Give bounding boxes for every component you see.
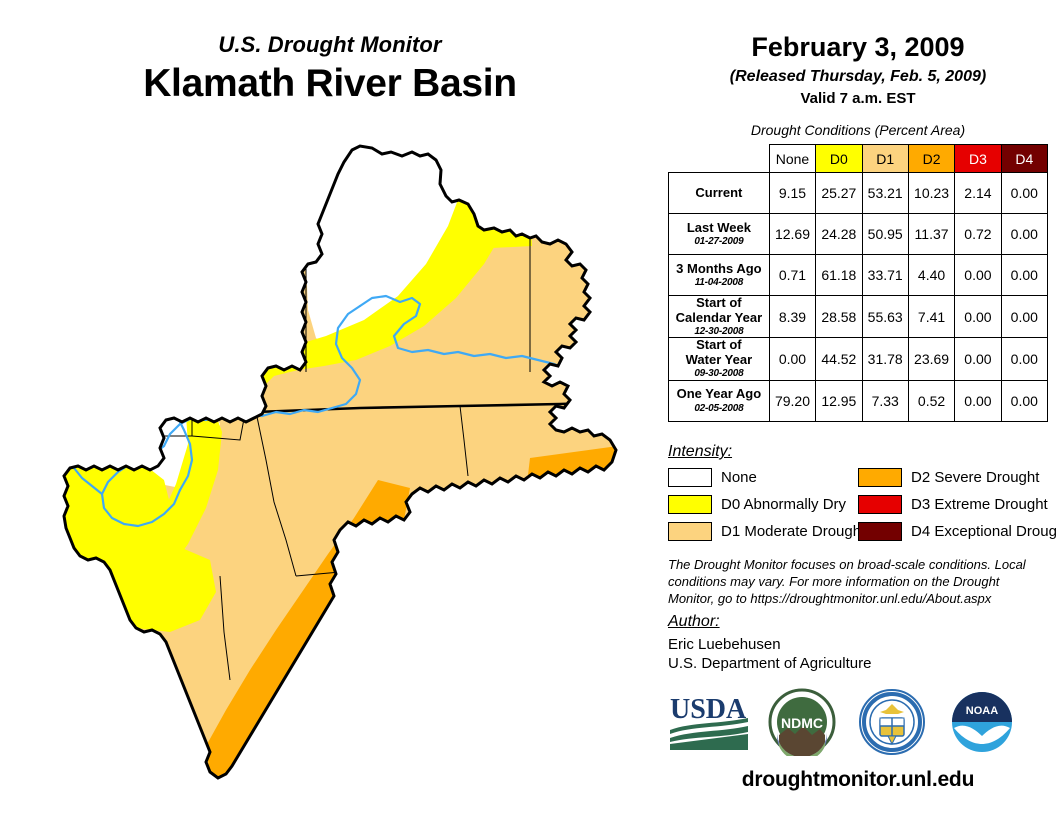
cell-d3: 0.72 [955,214,1001,255]
release-date: (Released Thursday, Feb. 5, 2009) [660,68,1056,86]
cell-d1: 55.63 [862,296,908,338]
cell-d0: 61.18 [816,255,862,296]
row-label-date: 02-05-2008 [669,403,769,414]
cell-d0: 44.52 [816,338,862,380]
table-body: Current 9.15 25.27 53.21 10.23 2.14 0.00… [669,173,1048,422]
legend-swatch-d1 [668,522,712,541]
cell-d1: 31.78 [862,338,908,380]
table-caption: Drought Conditions (Percent Area) [660,122,1056,138]
column-header-d3: D3 [955,145,1001,173]
cell-d0: 12.95 [816,380,862,421]
cell-d2: 23.69 [908,338,954,380]
legend-swatch-d0 [668,495,712,514]
legend-swatch-d2 [858,468,902,487]
legend-label-d0: D0 Abnormally Dry [721,496,846,513]
klamath-river-basin-map [60,140,640,790]
row-label-text: Current [695,185,742,200]
legend-item-d4: D4 Exceptional Drought [858,522,1056,541]
column-header-d2: D2 [908,145,954,173]
row-label-date: 12-30-2008 [669,326,769,337]
cell-d3: 0.00 [955,255,1001,296]
legend-item-none: None [668,468,757,487]
table-corner-blank [669,145,770,173]
legend-item-d0: D0 Abnormally Dry [668,495,846,514]
cell-none: 0.00 [769,338,815,380]
usda-logo: USDA [668,688,752,759]
drought-conditions-table: None D0 D1 D2 D3 D4 Current 9.15 25.27 5… [668,144,1048,422]
legend-item-d3: D3 Extreme Drought [858,495,1048,514]
cell-d0: 25.27 [816,173,862,214]
row-label-text: Start ofWater Year [686,337,753,367]
cell-none: 12.69 [769,214,815,255]
legend-label-none: None [721,469,757,486]
cell-d0: 28.58 [816,296,862,338]
row-label-date: 01-27-2009 [669,236,769,247]
row-label-text: One Year Ago [677,386,762,401]
legend-item-d2: D2 Severe Drought [858,468,1039,487]
cell-d3: 0.00 [955,296,1001,338]
cell-none: 0.71 [769,255,815,296]
row-label-one-year-ago: One Year Ago 02-05-2008 [669,380,770,421]
cell-d2: 7.41 [908,296,954,338]
row-label-start-of-water-year: Start ofWater Year 09-30-2008 [669,338,770,380]
svg-text:NOAA: NOAA [966,705,998,717]
ndmc-logo: NDMC [768,688,836,761]
row-label-text: Start ofCalendar Year [676,295,762,325]
cell-d1: 53.21 [862,173,908,214]
table-row: Start ofCalendar Year 12-30-2008 8.39 28… [669,296,1048,338]
cell-d3: 0.00 [955,380,1001,421]
row-label-date: 09-30-2008 [669,368,769,379]
table-row: Current 9.15 25.27 53.21 10.23 2.14 0.00 [669,173,1048,214]
column-header-none: None [769,145,815,173]
legend-title: Intensity: [668,443,732,461]
cell-d1: 50.95 [862,214,908,255]
row-label-text: 3 Months Ago [676,261,761,276]
cell-d3: 2.14 [955,173,1001,214]
cell-d2: 4.40 [908,255,954,296]
table-row: One Year Ago 02-05-2008 79.20 12.95 7.33… [669,380,1048,421]
cell-d2: 10.23 [908,173,954,214]
drought-monitor-supertitle: U.S. Drought Monitor [0,32,660,58]
usdc-seal-logo [858,688,926,761]
fill-d2-northeast [526,446,622,524]
cell-d1: 33.71 [862,255,908,296]
disclaimer-note: The Drought Monitor focuses on broad-sca… [668,556,1048,607]
agency-logos: USDA NDMC [660,688,1056,764]
cell-d2: 0.52 [908,380,954,421]
author-organization: U.S. Department of Agriculture [668,655,871,672]
cell-none: 9.15 [769,173,815,214]
cell-none: 8.39 [769,296,815,338]
noaa-logo: NOAA [948,688,1016,761]
row-label-current: Current [669,173,770,214]
legend-swatch-d4 [858,522,902,541]
author-name: Eric Luebehusen [668,636,781,653]
row-label-start-of-calendar-year: Start ofCalendar Year 12-30-2008 [669,296,770,338]
valid-time: Valid 7 a.m. EST [660,90,1056,107]
row-label-date: 11-04-2008 [669,277,769,288]
legend-swatch-d3 [858,495,902,514]
website-url: droughtmonitor.unl.edu [660,768,1056,792]
cell-d4: 0.00 [1001,380,1047,421]
cell-d4: 0.00 [1001,296,1047,338]
legend-label-d4: D4 Exceptional Drought [911,523,1056,540]
row-label-last-week: Last Week 01-27-2009 [669,214,770,255]
map-panel: U.S. Drought Monitor Klamath River Basin [0,0,660,816]
cell-d3: 0.00 [955,338,1001,380]
cell-none: 79.20 [769,380,815,421]
map-drought-fills [60,140,640,790]
table-row: 3 Months Ago 11-04-2008 0.71 61.18 33.71… [669,255,1048,296]
info-panel: February 3, 2009 (Released Thursday, Feb… [660,0,1056,816]
map-date: February 3, 2009 [660,32,1056,63]
column-header-d4: D4 [1001,145,1047,173]
legend-label-d3: D3 Extreme Drought [911,496,1048,513]
legend-label-d1: D1 Moderate Drought [721,523,865,540]
column-header-d0: D0 [816,145,862,173]
table-row: Last Week 01-27-2009 12.69 24.28 50.95 1… [669,214,1048,255]
row-label-3-months-ago: 3 Months Ago 11-04-2008 [669,255,770,296]
legend-swatch-none [668,468,712,487]
column-header-d1: D1 [862,145,908,173]
svg-text:NDMC: NDMC [781,715,823,731]
cell-d2: 11.37 [908,214,954,255]
cell-d4: 0.00 [1001,338,1047,380]
fill-d0-southwest [108,548,216,632]
cell-d4: 0.00 [1001,173,1047,214]
author-title: Author: [668,613,720,631]
cell-d4: 0.00 [1001,214,1047,255]
page-title: Klamath River Basin [0,62,660,106]
row-label-text: Last Week [687,220,751,235]
cell-d4: 0.00 [1001,255,1047,296]
table-header-row: None D0 D1 D2 D3 D4 [669,145,1048,173]
cell-d1: 7.33 [862,380,908,421]
table-row: Start ofWater Year 09-30-2008 0.00 44.52… [669,338,1048,380]
cell-d0: 24.28 [816,214,862,255]
legend-item-d1: D1 Moderate Drought [668,522,865,541]
legend-label-d2: D2 Severe Drought [911,469,1039,486]
